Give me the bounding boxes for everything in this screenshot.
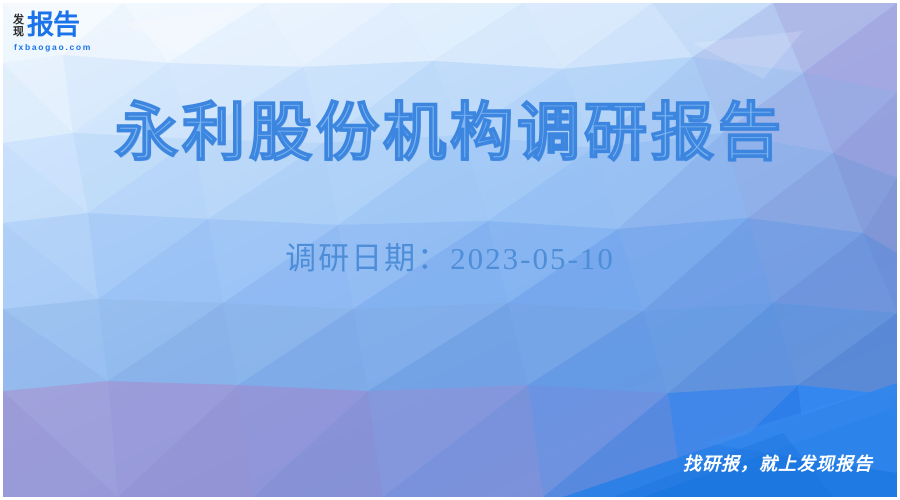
report-cover-slide: 发 现 报告 fxbaogao.com 永利股份机构调研报告 调研日期：2023… xyxy=(0,0,900,500)
brand-logo-row: 发 现 报告 xyxy=(13,12,79,39)
page-title: 永利股份机构调研报告 xyxy=(3,96,897,170)
brand-logo-mark: 发 现 xyxy=(13,14,24,38)
brand-wordmark: 报告 xyxy=(27,12,79,39)
survey-date-subtitle: 调研日期：2023-05-10 xyxy=(3,239,897,279)
brand-domain-text: fxbaogao.com xyxy=(14,43,92,52)
brand-tagline: 找研报，就上发现报告 xyxy=(683,453,873,475)
slide-canvas: 发 现 报告 fxbaogao.com 永利股份机构调研报告 调研日期：2023… xyxy=(3,3,897,497)
brand-logo[interactable]: 发 现 报告 fxbaogao.com xyxy=(13,12,92,52)
brand-mark-bottom-char: 现 xyxy=(13,26,24,38)
brand-mark-top-char: 发 xyxy=(13,14,24,26)
